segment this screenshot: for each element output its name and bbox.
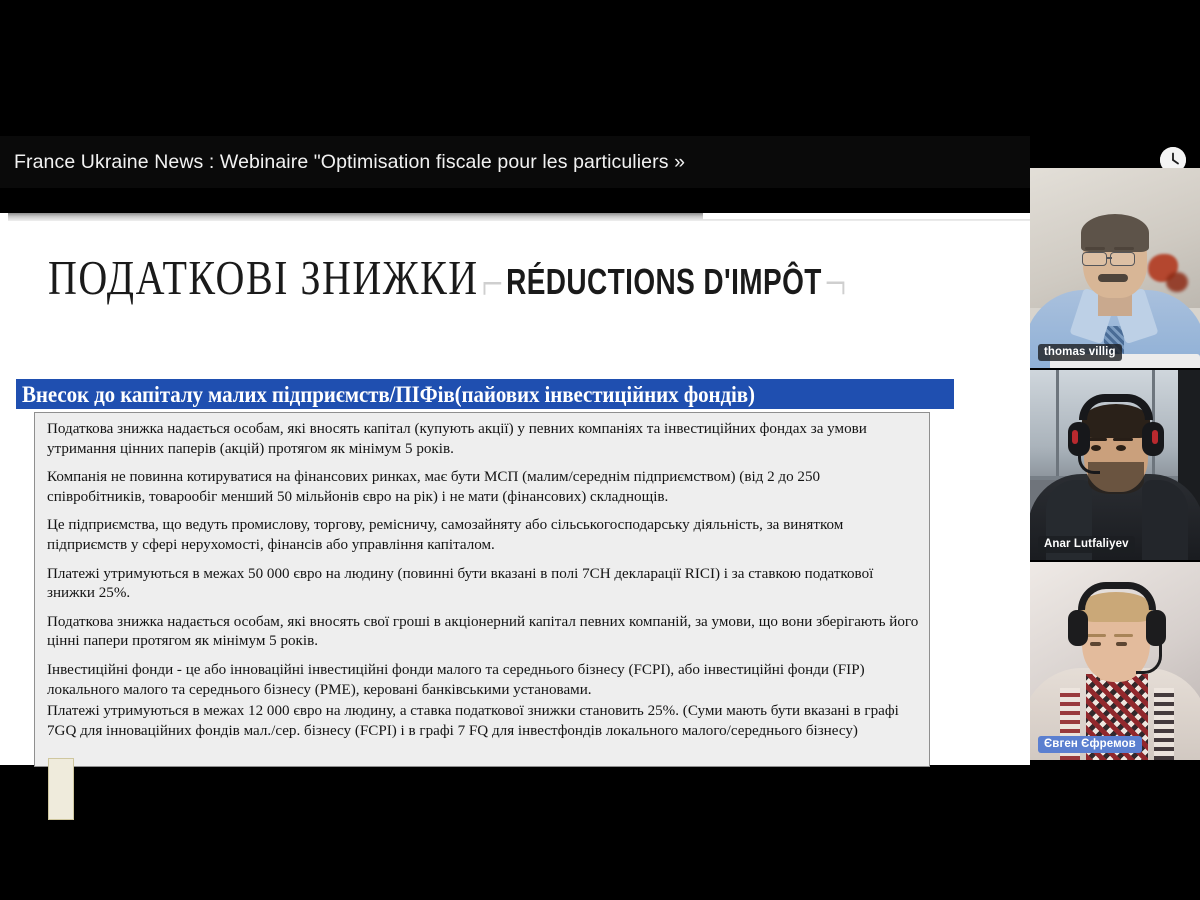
slide-paragraph: Податкова знижка надається особам, які в… bbox=[47, 613, 919, 652]
slide-paragraph: Податкова знижка надається особам, які в… bbox=[47, 420, 919, 459]
shared-screen-slide[interactable]: ПОДАТКОВІ ЗНИЖКИ ⌐ RÉDUCTIONS D'IMPÔT ¬ … bbox=[0, 213, 1030, 765]
slide-section-banner: Внесок до капіталу малих підприємств/ПІФ… bbox=[16, 379, 954, 409]
slide-body-text-box: Податкова знижка надається особам, які в… bbox=[34, 412, 930, 767]
slide-canvas: ПОДАТКОВІ ЗНИЖКИ ⌐ RÉDUCTIONS D'IMPÔT ¬ … bbox=[8, 221, 1030, 761]
slide-paragraph: Це підприємства, що ведуть промислову, т… bbox=[47, 516, 919, 555]
slide-toolbar-strip bbox=[8, 213, 703, 221]
slide-paragraph: Інвестиційні фонди - це або інноваційні … bbox=[47, 661, 919, 700]
slide-headline-ukrainian: ПОДАТКОВІ ЗНИЖКИ bbox=[48, 249, 479, 306]
slide-section-banner-text: Внесок до капіталу малих підприємств/ПІФ… bbox=[16, 380, 755, 408]
slide-corner-marker bbox=[48, 758, 74, 820]
participant-tile[interactable]: Anar Lutfaliyev bbox=[1030, 368, 1200, 560]
participant-name-label: Євген Єфремов bbox=[1038, 736, 1142, 753]
participant-tile[interactable]: Євген Єфремов bbox=[1030, 560, 1200, 760]
headset-icon bbox=[1079, 394, 1153, 420]
video-call-screen: France Ukraine News : Webinaire "Optimis… bbox=[0, 0, 1200, 900]
slide-paragraph: Платежі утримуються в межах 50 000 євро … bbox=[47, 565, 919, 604]
slide-paragraph: Компанія не повинна котируватися на фіна… bbox=[47, 468, 919, 507]
slide-headline: ПОДАТКОВІ ЗНИЖКИ ⌐ RÉDUCTIONS D'IMPÔT ¬ bbox=[48, 259, 849, 306]
participant-name-label: thomas villig bbox=[1038, 344, 1122, 361]
slide-paragraph: Платежі утримуються в межах 12 000 євро … bbox=[47, 702, 919, 741]
slide-headline-french: RÉDUCTIONS D'IMPÔT bbox=[506, 262, 822, 303]
participant-tile[interactable]: thomas villig bbox=[1030, 168, 1200, 368]
participant-name-label: Anar Lutfaliyev bbox=[1038, 536, 1135, 553]
meeting-title-bar: France Ukraine News : Webinaire "Optimis… bbox=[0, 136, 1030, 188]
headline-bracket-open-icon: ⌐ bbox=[479, 255, 506, 312]
headline-bracket-close-icon: ¬ bbox=[822, 255, 849, 312]
participant-video-rail: thomas villig Ana bbox=[1030, 168, 1200, 764]
meeting-title: France Ukraine News : Webinaire "Optimis… bbox=[0, 151, 685, 174]
